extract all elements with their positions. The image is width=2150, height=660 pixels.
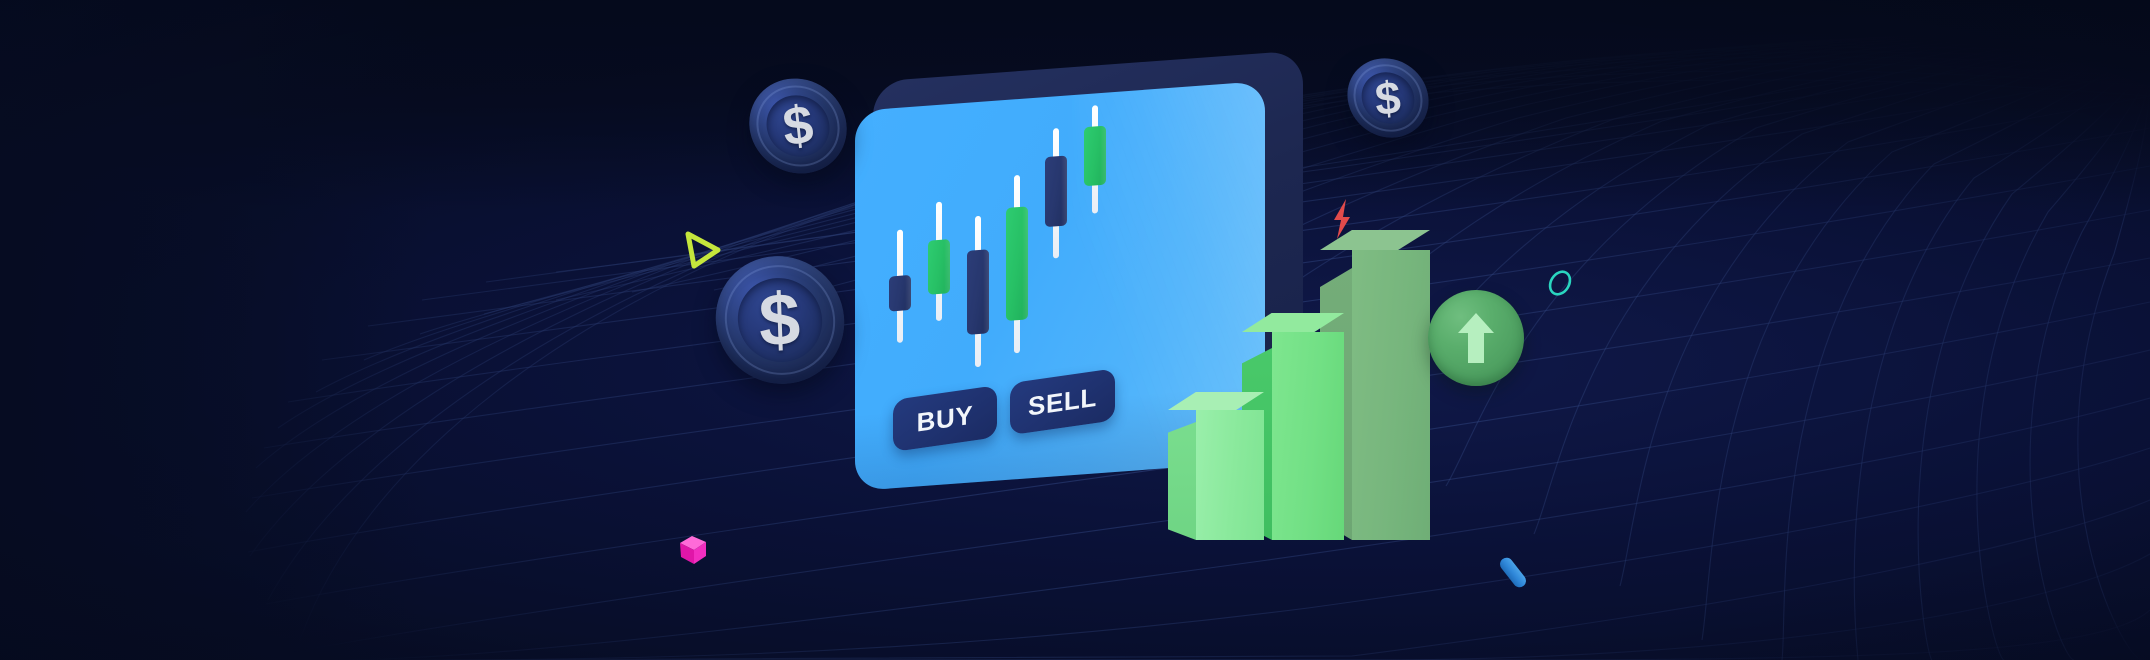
cube — [678, 534, 708, 566]
candlestick — [1045, 95, 1067, 367]
cube-icon — [680, 536, 706, 564]
growth-arrow-badge — [1428, 290, 1524, 386]
candlestick — [1006, 98, 1028, 370]
coin-symbol: $ — [758, 282, 802, 358]
scene-root: BUY SELL — [0, 0, 2150, 660]
coin-symbol: $ — [1374, 74, 1403, 123]
candle-body — [1084, 126, 1106, 187]
candlestick — [889, 107, 911, 379]
candle-body — [1045, 155, 1067, 227]
candle-body — [928, 239, 950, 295]
coin-bottom-left: $ — [710, 253, 849, 387]
coin-top-left: $ — [740, 72, 855, 179]
ring-icon — [1546, 268, 1574, 298]
bar-3 — [1352, 250, 1430, 540]
triangle-outline — [680, 228, 724, 272]
play-triangle-icon — [688, 234, 718, 266]
bar-1 — [1196, 410, 1264, 540]
coin-top-right: $ — [1342, 56, 1435, 141]
ring-outline — [1545, 268, 1575, 298]
lightning-bolt-icon — [1334, 199, 1350, 239]
arrow-up-icon — [1456, 312, 1496, 364]
bar-face — [1272, 332, 1344, 540]
candle-body — [967, 249, 989, 335]
bar-face — [1196, 410, 1264, 540]
capsule — [1497, 555, 1528, 590]
candle-body — [1006, 206, 1028, 321]
lightning-bolt — [1330, 198, 1354, 240]
bar-2 — [1272, 332, 1344, 540]
coin-symbol: $ — [780, 97, 815, 155]
candlestick — [967, 101, 989, 373]
candle-body — [889, 275, 911, 312]
candlestick — [928, 104, 950, 376]
candlestick — [1084, 93, 1106, 365]
bar-face — [1352, 250, 1430, 540]
illustration-stage: BUY SELL — [0, 0, 2150, 660]
bar-side — [1168, 422, 1196, 540]
